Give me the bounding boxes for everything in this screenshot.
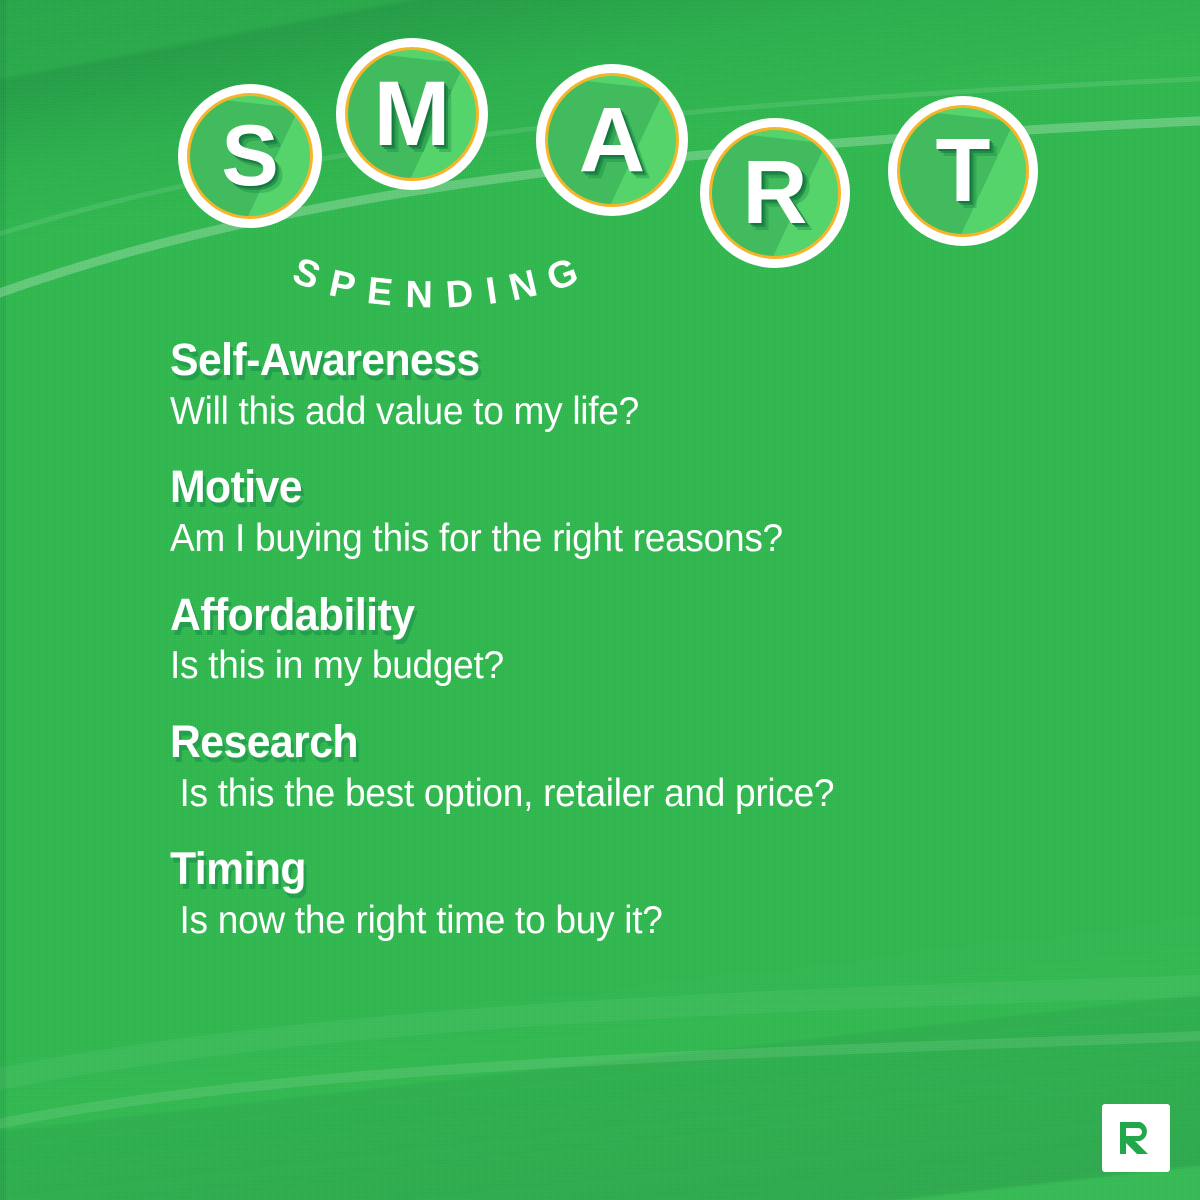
smart-letter-s: S bbox=[221, 113, 278, 199]
spending-text: SPENDING bbox=[287, 246, 597, 317]
list-item: Research Is this the best option, retail… bbox=[170, 718, 1180, 815]
list-item: Self-Awareness Will this add value to my… bbox=[170, 336, 1180, 433]
smart-letter-bubble-a: A bbox=[536, 64, 688, 216]
infographic-canvas: S M A R T SPENDING bbox=[0, 0, 1200, 1200]
list-item-heading: Research bbox=[170, 718, 1130, 766]
smart-letter-bubble-s: S bbox=[178, 84, 322, 228]
list-item-question: Is now the right time to buy it? bbox=[170, 899, 1130, 943]
list-item-heading: Self-Awareness bbox=[170, 336, 1130, 384]
ramsey-r-icon bbox=[1114, 1116, 1158, 1160]
list-item-heading: Timing bbox=[170, 845, 1130, 893]
smart-letter-t: T bbox=[936, 126, 991, 216]
list-item-question: Will this add value to my life? bbox=[170, 390, 1130, 434]
list-item-heading: Motive bbox=[170, 463, 1130, 511]
svg-text:SPENDING: SPENDING bbox=[287, 246, 597, 317]
smart-letter-bubble-m: M bbox=[336, 38, 488, 190]
list-item-question: Is this the best option, retailer and pr… bbox=[170, 772, 1130, 816]
list-item-question: Is this in my budget? bbox=[170, 644, 1130, 688]
list-item-heading: Affordability bbox=[170, 591, 1130, 639]
ramsey-logo bbox=[1102, 1104, 1170, 1172]
list-item: Motive Am I buying this for the right re… bbox=[170, 463, 1180, 560]
smart-letter-r: R bbox=[743, 148, 808, 238]
list-item-question: Am I buying this for the right reasons? bbox=[170, 517, 1130, 561]
list-item: Timing Is now the right time to buy it? bbox=[170, 845, 1180, 942]
smart-spending-list: Self-Awareness Will this add value to my… bbox=[170, 336, 1180, 943]
smart-letter-a: A bbox=[579, 94, 645, 186]
list-item: Affordability Is this in my budget? bbox=[170, 591, 1180, 688]
spending-subtitle: SPENDING bbox=[0, 215, 1200, 325]
smart-letter-m: M bbox=[374, 68, 451, 160]
